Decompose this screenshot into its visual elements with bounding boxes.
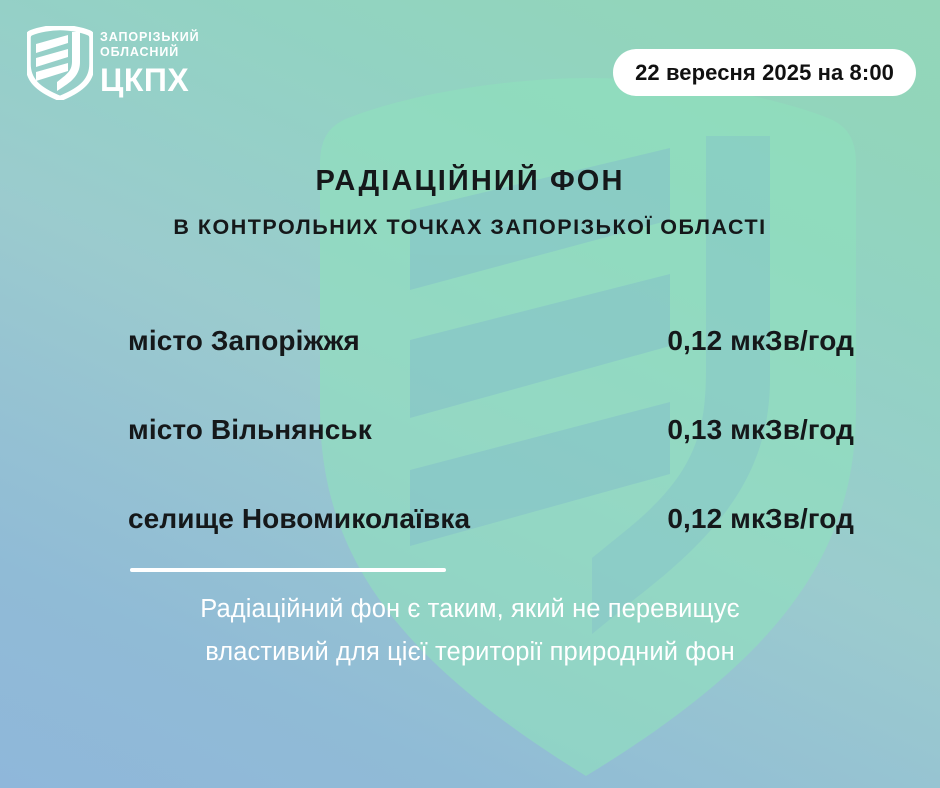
page-title: РАДІАЦІЙНИЙ ФОН (0, 163, 940, 199)
logo-wordmark: ЗАПОРІЗЬКИЙ ОБЛАСНИЙ ЦКПХ (100, 30, 200, 97)
logo-acronym: ЦКПХ (100, 63, 200, 97)
measurement-row: місто Запоріжжя 0,12 мкЗв/год (128, 325, 854, 371)
footer-note-line-2: властивий для цієї території природний ф… (0, 631, 940, 674)
measurement-value: 0,12 мкЗв/год (667, 325, 854, 357)
measurement-location: місто Запоріжжя (128, 325, 360, 357)
footer-note: Радіаційний фон є таким, який не перевищ… (0, 588, 940, 674)
shield-logo-icon (27, 26, 93, 100)
measurement-list: місто Запоріжжя 0,12 мкЗв/год місто Віль… (128, 325, 854, 549)
measurement-row: селище Новомиколаївка 0,12 мкЗв/год (128, 503, 854, 549)
logo-line-1: ЗАПОРІЗЬКИЙ (100, 30, 200, 45)
measurement-location: селище Новомиколаївка (128, 503, 470, 535)
measurement-value: 0,13 мкЗв/год (667, 414, 854, 446)
title-block: РАДІАЦІЙНИЙ ФОН В КОНТРОЛЬНИХ ТОЧКАХ ЗАП… (0, 163, 940, 240)
divider (130, 568, 446, 572)
date-badge: 22 вересня 2025 на 8:00 (613, 49, 916, 96)
poster-canvas: ЗАПОРІЗЬКИЙ ОБЛАСНИЙ ЦКПХ 22 вересня 202… (0, 0, 940, 788)
footer-note-line-1: Радіаційний фон є таким, який не перевищ… (0, 588, 940, 631)
date-badge-text: 22 вересня 2025 на 8:00 (635, 60, 894, 86)
measurement-value: 0,12 мкЗв/год (667, 503, 854, 535)
measurement-row: місто Вільнянськ 0,13 мкЗв/год (128, 414, 854, 460)
measurement-location: місто Вільнянськ (128, 414, 372, 446)
page-subtitle: В КОНТРОЛЬНИХ ТОЧКАХ ЗАПОРІЗЬКОЇ ОБЛАСТІ (0, 214, 940, 240)
header: ЗАПОРІЗЬКИЙ ОБЛАСНИЙ ЦКПХ 22 вересня 202… (0, 0, 940, 120)
logo-line-2: ОБЛАСНИЙ (100, 45, 200, 60)
